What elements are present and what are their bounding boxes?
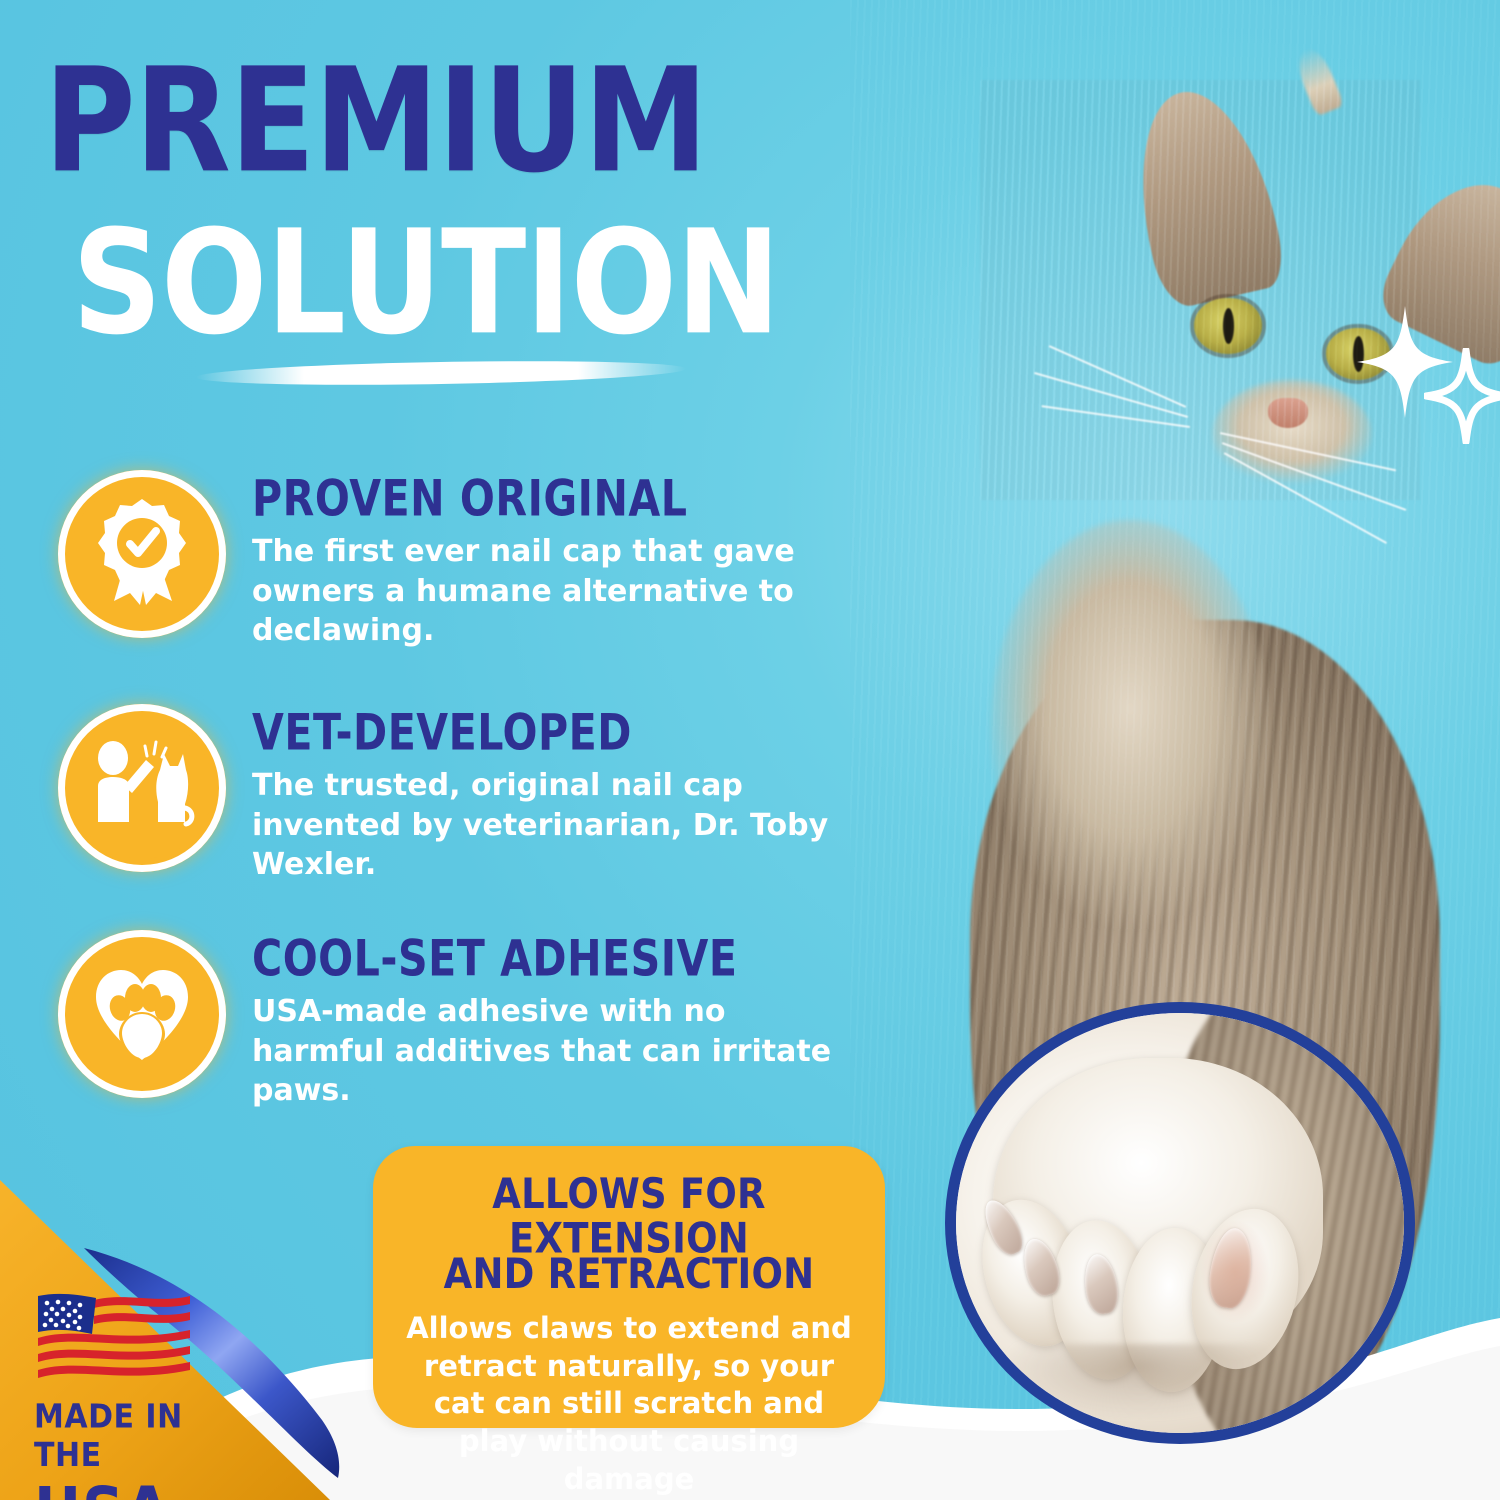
- cat-eye-left: [1194, 298, 1262, 354]
- callout-heading-line-2: AND RETRACTION: [399, 1252, 859, 1297]
- feature-heading: COOL-SET ADHESIVE: [252, 934, 836, 984]
- extension-retraction-callout: ALLOWS FOR EXTENSION AND RETRACTION Allo…: [373, 1146, 885, 1428]
- callout-heading-line-1: ALLOWS FOR EXTENSION: [399, 1172, 859, 1261]
- feature-heading: VET-DEVELOPED: [252, 708, 836, 758]
- feature-body: The trusted, original nail cap invented …: [252, 766, 848, 885]
- feature-vet-developed: VET-DEVELOPED The trusted, original nail…: [58, 702, 848, 885]
- product-infographic: PREMIUM SOLUTION PROVEN ORIGINAL The fir…: [0, 0, 1500, 1500]
- award-ribbon-icon: [58, 470, 226, 638]
- made-in-usa-line-1: MADE IN THE: [34, 1398, 244, 1475]
- feature-heading: PROVEN ORIGINAL: [252, 474, 836, 524]
- paw-inset-photo: [945, 1002, 1415, 1444]
- sparkle-star-outline-icon: [1424, 348, 1500, 444]
- headline-line-1: PREMIUM: [44, 52, 892, 189]
- made-in-usa-badge: MADE IN THE USA: [34, 1286, 244, 1500]
- heart-paw-icon: [58, 930, 226, 1098]
- made-in-usa-line-2: USA: [34, 1478, 244, 1500]
- feature-body: USA-made adhesive with no harmful additi…: [252, 992, 848, 1111]
- cat-nose: [1268, 398, 1308, 428]
- feature-body: The first ever nail cap that gave owners…: [252, 532, 848, 651]
- cat-head: [980, 80, 1420, 500]
- callout-body: Allows claws to extend and retract natur…: [399, 1310, 859, 1498]
- usa-flag-icon: [34, 1286, 194, 1384]
- headline-line-2: SOLUTION: [72, 214, 890, 351]
- feature-cool-set-adhesive: COOL-SET ADHESIVE USA-made adhesive with…: [58, 928, 848, 1111]
- vet-high-five-cat-icon: [58, 704, 226, 872]
- headline-block: PREMIUM SOLUTION: [44, 52, 844, 326]
- feature-proven-original: PROVEN ORIGINAL The first ever nail cap …: [58, 468, 848, 651]
